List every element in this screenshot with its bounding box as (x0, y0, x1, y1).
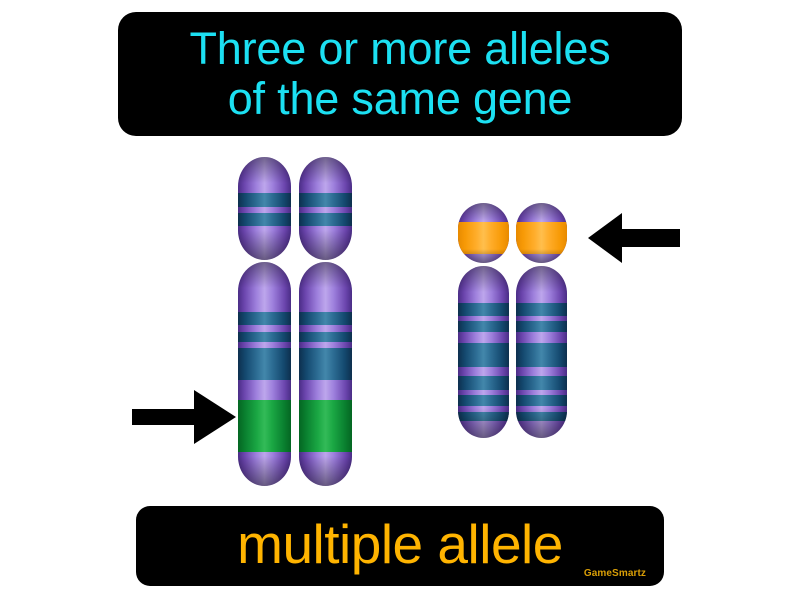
arm-shading (516, 266, 567, 292)
arm-shading (299, 230, 352, 260)
band-teal (516, 395, 567, 406)
band-teal (299, 213, 352, 226)
band-teal (299, 312, 352, 325)
band-teal (238, 312, 291, 325)
left-chromatid-a-upper-arm (238, 157, 291, 260)
band-teal (238, 348, 291, 380)
band-teal (458, 303, 509, 316)
band-teal (458, 412, 509, 421)
green-allele-band (299, 400, 352, 452)
arm-shading (238, 262, 291, 288)
left-arrow-icon (132, 390, 236, 444)
right-chromatid-a-lower-arm (458, 266, 509, 438)
band-teal (458, 343, 509, 367)
watermark-label: GameSmartz (584, 568, 646, 579)
arm-shading (458, 266, 509, 292)
band-teal (458, 395, 509, 406)
arm-shading (238, 230, 291, 260)
band-teal (299, 348, 352, 380)
band-teal (516, 321, 567, 332)
arm-shading (299, 456, 352, 486)
arm-shading (238, 157, 291, 183)
band-teal (458, 321, 509, 332)
green-allele-band (238, 400, 291, 452)
left-chromatid-b-lower-arm (299, 262, 352, 486)
band-teal (516, 376, 567, 390)
orange-allele-band (516, 222, 567, 254)
band-teal (516, 343, 567, 367)
right-chromatid-b-lower-arm (516, 266, 567, 438)
term-label: multiple allele (237, 517, 563, 572)
orange-allele-band (458, 222, 509, 254)
right-chromatid-b-upper-arm (516, 203, 567, 263)
term-banner: multiple allele GameSmartz (136, 506, 664, 586)
band-teal (299, 332, 352, 342)
band-teal (238, 332, 291, 342)
right-chromatid-a-upper-arm (458, 203, 509, 263)
band-teal (238, 193, 291, 207)
left-chromatid-b-upper-arm (299, 157, 352, 260)
left-chromatid-a-lower-arm (238, 262, 291, 486)
band-teal (238, 213, 291, 226)
band-teal (299, 193, 352, 207)
band-teal (516, 412, 567, 421)
band-teal (458, 376, 509, 390)
arm-shading (516, 203, 567, 221)
arm-shading (238, 456, 291, 486)
definition-card: Three or more alleles of the same gene (0, 0, 800, 600)
arm-shading (299, 262, 352, 288)
arm-shading (299, 157, 352, 183)
right-arrow-icon (588, 213, 680, 263)
arm-shading (458, 203, 509, 221)
band-teal (516, 303, 567, 316)
